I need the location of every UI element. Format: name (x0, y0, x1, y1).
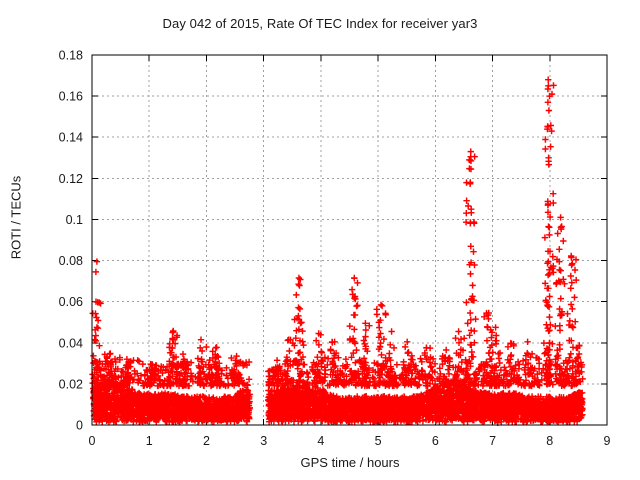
svg-text:0.02: 0.02 (59, 377, 83, 391)
data-points (89, 77, 586, 427)
svg-text:0.08: 0.08 (59, 254, 83, 268)
svg-text:0.12: 0.12 (59, 172, 83, 186)
x-tick-labels: 0123456789 (89, 434, 611, 448)
svg-text:8: 8 (546, 434, 553, 448)
svg-text:1: 1 (146, 434, 153, 448)
svg-text:0: 0 (76, 419, 83, 433)
svg-text:7: 7 (489, 434, 496, 448)
svg-text:0.14: 0.14 (59, 131, 83, 145)
svg-text:3: 3 (260, 434, 267, 448)
svg-text:9: 9 (604, 434, 611, 448)
svg-text:0.06: 0.06 (59, 295, 83, 309)
svg-text:0.04: 0.04 (59, 336, 83, 350)
svg-text:0: 0 (89, 434, 96, 448)
svg-text:2: 2 (203, 434, 210, 448)
plot-canvas: 00.020.040.060.080.10.120.140.160.18 012… (0, 0, 640, 480)
y-tick-labels: 00.020.040.060.080.10.120.140.160.18 (59, 49, 83, 433)
roti-scatter-plot: Day 042 of 2015, Rate Of TEC Index for r… (0, 0, 640, 480)
svg-text:0.18: 0.18 (59, 49, 83, 63)
plot-svg: 00.020.040.060.080.10.120.140.160.18 012… (0, 0, 640, 480)
svg-text:6: 6 (432, 434, 439, 448)
svg-text:0.1: 0.1 (66, 213, 83, 227)
svg-text:5: 5 (375, 434, 382, 448)
svg-text:4: 4 (317, 434, 324, 448)
svg-text:0.16: 0.16 (59, 90, 83, 104)
